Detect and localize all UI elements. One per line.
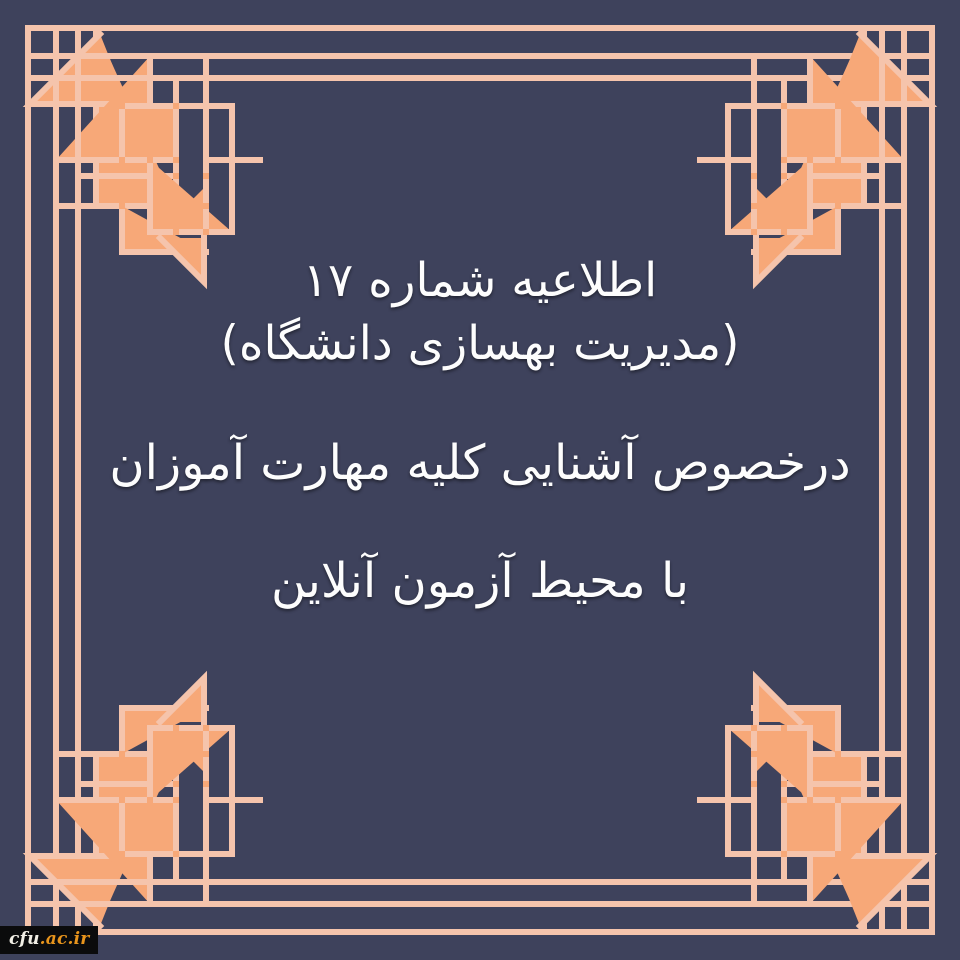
body-line-topic: با محیط آزمون آنلاین [90, 550, 870, 612]
announcement-body: درخصوص آشنایی کلیه مهارت آموزان با محیط … [90, 432, 870, 613]
announcement-text: اطلاعیه شماره ۱۷ (مدیریت بهسازی دانشگاه)… [90, 250, 870, 613]
announcement-poster: اطلاعیه شماره ۱۷ (مدیریت بهسازی دانشگاه)… [0, 0, 960, 960]
title-line-number: اطلاعیه شماره ۱۷ [90, 250, 870, 313]
watermark-primary-text: cfu [9, 929, 40, 949]
announcement-title: اطلاعیه شماره ۱۷ (مدیریت بهسازی دانشگاه) [90, 250, 870, 376]
watermark-secondary-text: .ac.ir [40, 929, 90, 949]
title-line-department: (مدیریت بهسازی دانشگاه) [90, 313, 870, 376]
body-line-subject: درخصوص آشنایی کلیه مهارت آموزان [90, 432, 870, 494]
site-watermark: cfu.ac.ir [0, 926, 98, 954]
